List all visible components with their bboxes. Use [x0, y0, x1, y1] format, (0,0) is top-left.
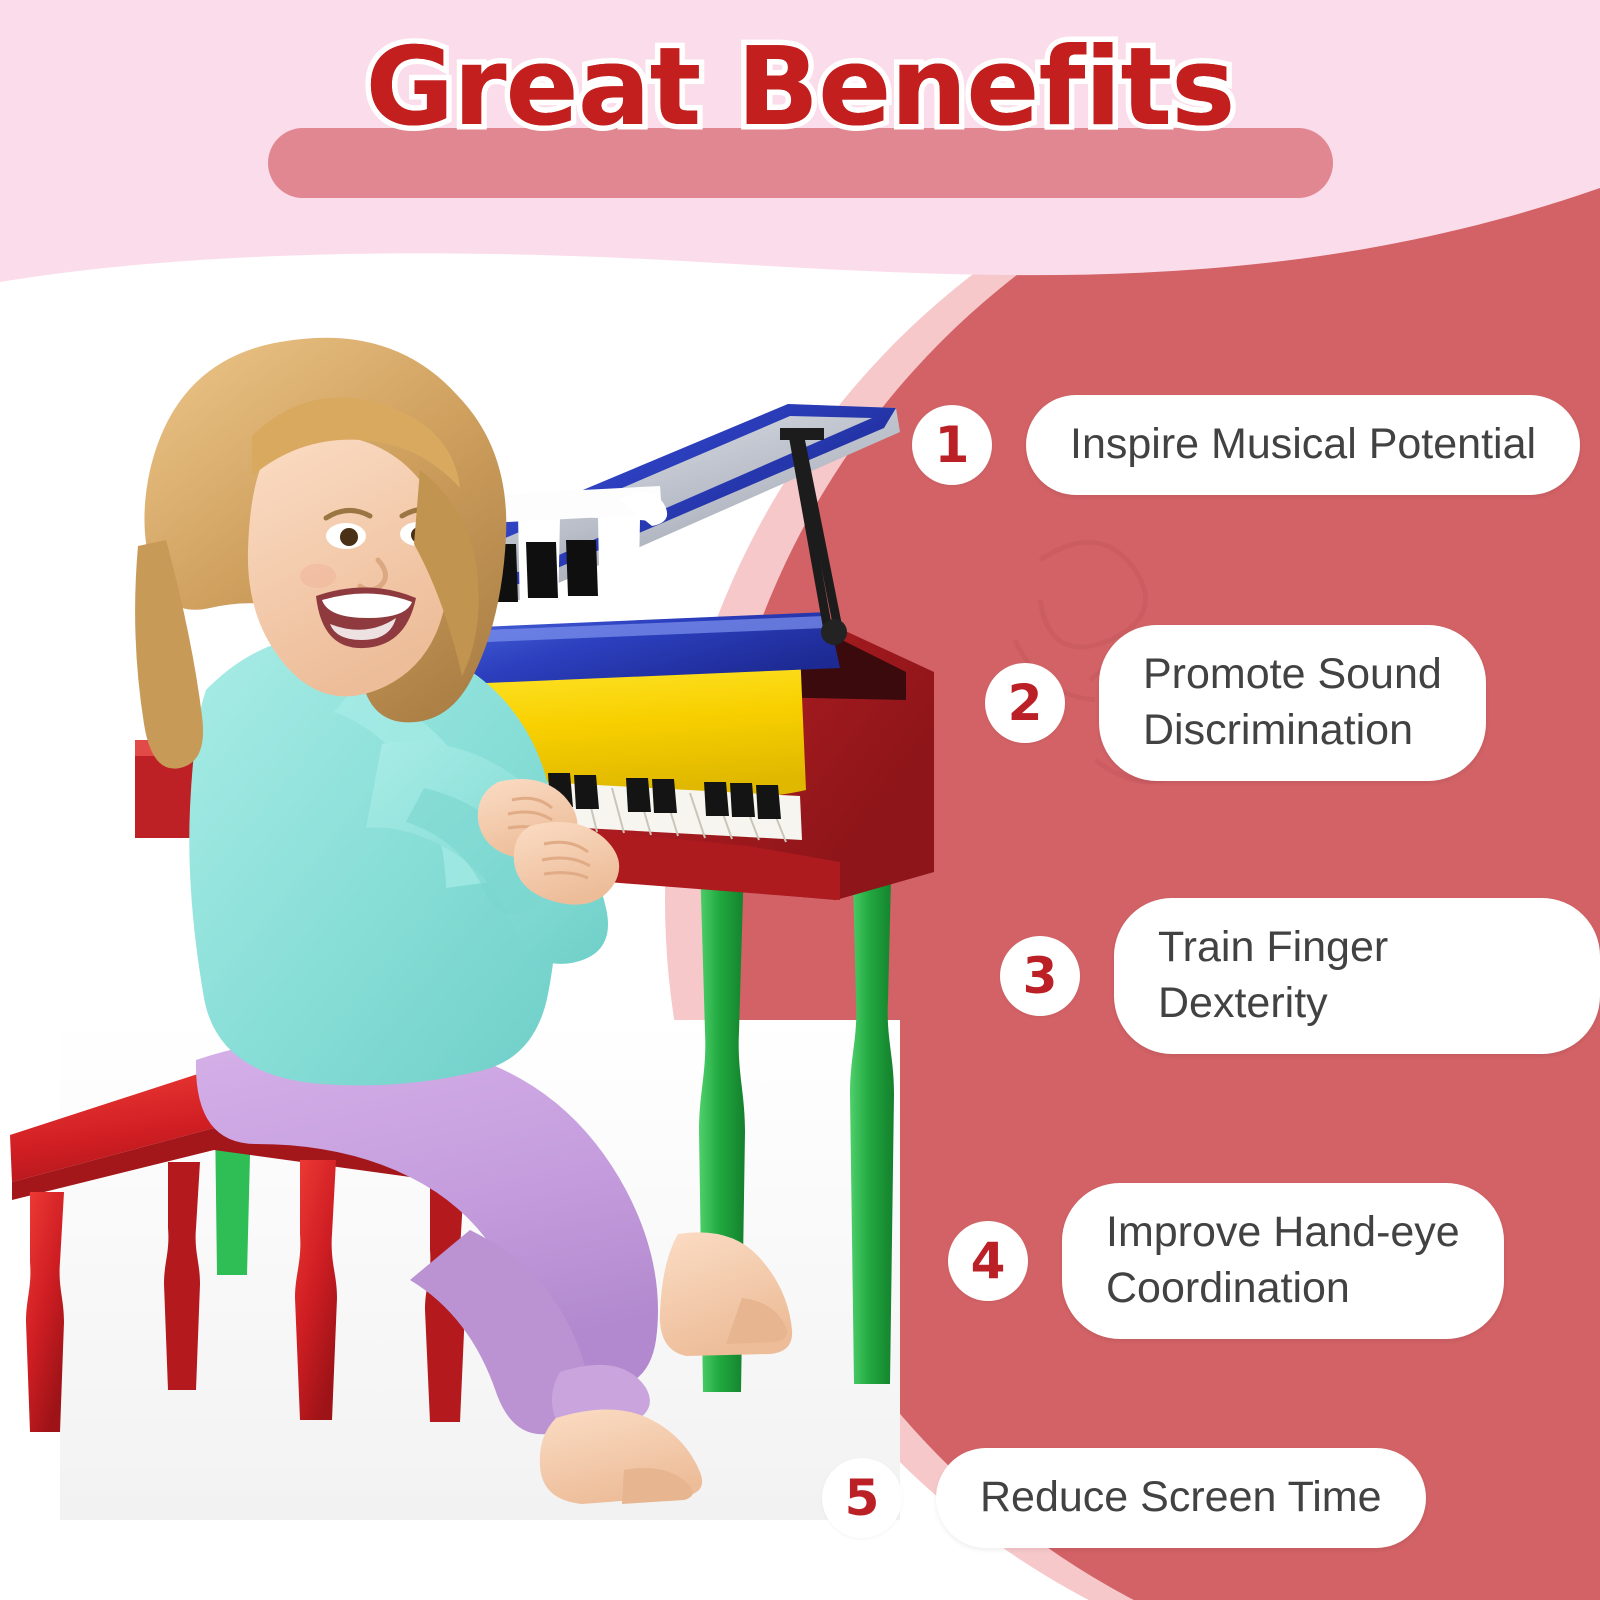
benefit-number-badge-2: 2: [985, 663, 1065, 743]
benefit-item-5[interactable]: 5 Reduce Screen Time: [822, 1448, 1426, 1548]
benefit-pill-5[interactable]: Reduce Screen Time: [936, 1448, 1426, 1548]
benefit-label-1: Inspire Musical Potential: [1070, 417, 1536, 473]
benefit-number-badge-3: 3: [1000, 936, 1080, 1016]
benefit-label-4: Improve Hand-eye Coordination: [1106, 1205, 1460, 1317]
benefit-label-5: Reduce Screen Time: [980, 1470, 1382, 1526]
benefit-pill-3[interactable]: Train Finger Dexterity: [1114, 898, 1600, 1054]
infographic-root: Great Benefits Great Benefits 1 Inspire …: [0, 0, 1600, 1600]
benefit-number-2: 2: [1008, 678, 1043, 728]
benefit-label-3: Train Finger Dexterity: [1158, 920, 1556, 1032]
benefit-item-2[interactable]: 2 Promote Sound Discrimination: [985, 625, 1486, 781]
benefit-number-4: 4: [971, 1236, 1006, 1286]
benefit-label-2: Promote Sound Discrimination: [1143, 647, 1442, 759]
benefit-item-3[interactable]: 3 Train Finger Dexterity: [1000, 898, 1600, 1054]
header: Great Benefits Great Benefits: [0, 0, 1600, 270]
benefit-pill-2[interactable]: Promote Sound Discrimination: [1099, 625, 1486, 781]
benefit-number-badge-1: 1: [912, 405, 992, 485]
benefit-pill-1[interactable]: Inspire Musical Potential: [1026, 395, 1580, 495]
benefit-item-1[interactable]: 1 Inspire Musical Potential: [912, 395, 1580, 495]
benefit-number-1: 1: [935, 420, 970, 470]
benefit-item-4[interactable]: 4 Improve Hand-eye Coordination: [948, 1183, 1504, 1339]
benefit-number-badge-4: 4: [948, 1221, 1028, 1301]
page-title: Great Benefits: [0, 34, 1600, 142]
benefit-number-3: 3: [1023, 951, 1058, 1001]
benefit-pill-4[interactable]: Improve Hand-eye Coordination: [1062, 1183, 1504, 1339]
benefit-number-5: 5: [845, 1473, 880, 1523]
benefit-number-badge-5: 5: [822, 1458, 902, 1538]
